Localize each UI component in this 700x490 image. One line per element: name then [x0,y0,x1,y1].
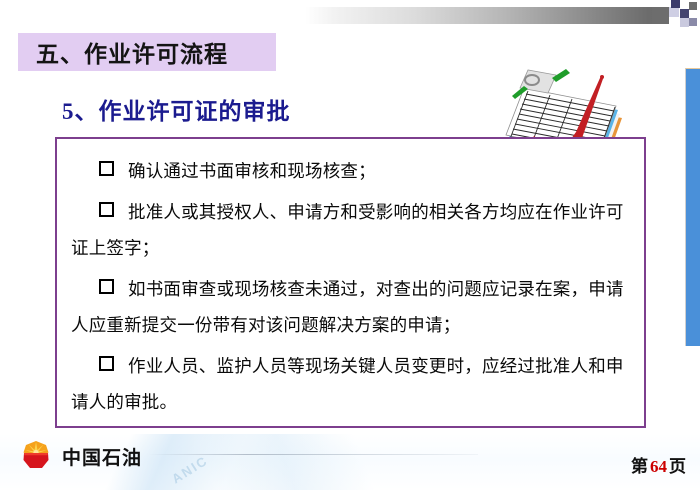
square-bullet-icon [99,202,114,217]
slide-canvas: 五、作业许可流程 5、作业许可证的审批 [0,0,700,490]
brand-logo-group: 中国石油 [18,438,142,474]
list-item-text: 作业人员、监护人员等现场关键人员变更时，应经过批准人和申请人的审批。 [71,356,624,412]
section-title-banner: 五、作业许可流程 [18,33,276,71]
sub-heading: 5、作业许可证的审批 [62,92,291,126]
petrochina-logo [18,438,54,474]
list-item-text: 批准人或其授权人、申请方和受影响的相关各方均应在作业许可证上签字； [71,202,624,258]
square-bullet-icon [99,161,114,176]
page-number-suffix: 页 [669,457,686,476]
square-bullet-icon [99,356,114,371]
page-number-value: 64 [650,457,667,476]
list-item: 确认通过书面审核和现场核查； [71,153,630,189]
list-item: 批准人或其授权人、申请方和受影响的相关各方均应在作业许可证上签字； [71,194,630,266]
brand-name: 中国石油 [62,443,142,470]
bullet-list: 确认通过书面审核和现场核查； 批准人或其授权人、申请方和受影响的相关各方均应在作… [57,139,644,425]
page-number-prefix: 第 [631,457,648,476]
list-item: 作业人员、监护人员等现场关键人员变更时，应经过批准人和申请人的审批。 [71,348,630,420]
list-item-text: 确认通过书面审核和现场核查； [128,161,376,181]
square-bullet-icon [99,279,114,294]
content-box: 确认通过书面审核和现场核查； 批准人或其授权人、申请方和受影响的相关各方均应在作… [55,137,646,428]
list-item-text: 如书面审查或现场核查未通过，对查出的问题应记录在案，申请人应重新提交一份带有对该… [71,279,624,335]
right-accent-bar [685,68,700,346]
page-title: 五、作业许可流程 [36,35,228,69]
gradient-bar-decoration [305,7,668,24]
list-item: 如书面审查或现场核查未通过，对查出的问题应记录在案，申请人应重新提交一份带有对该… [71,271,630,343]
checker-squares-icon [652,0,700,30]
page-number: 第64页 [631,452,686,477]
